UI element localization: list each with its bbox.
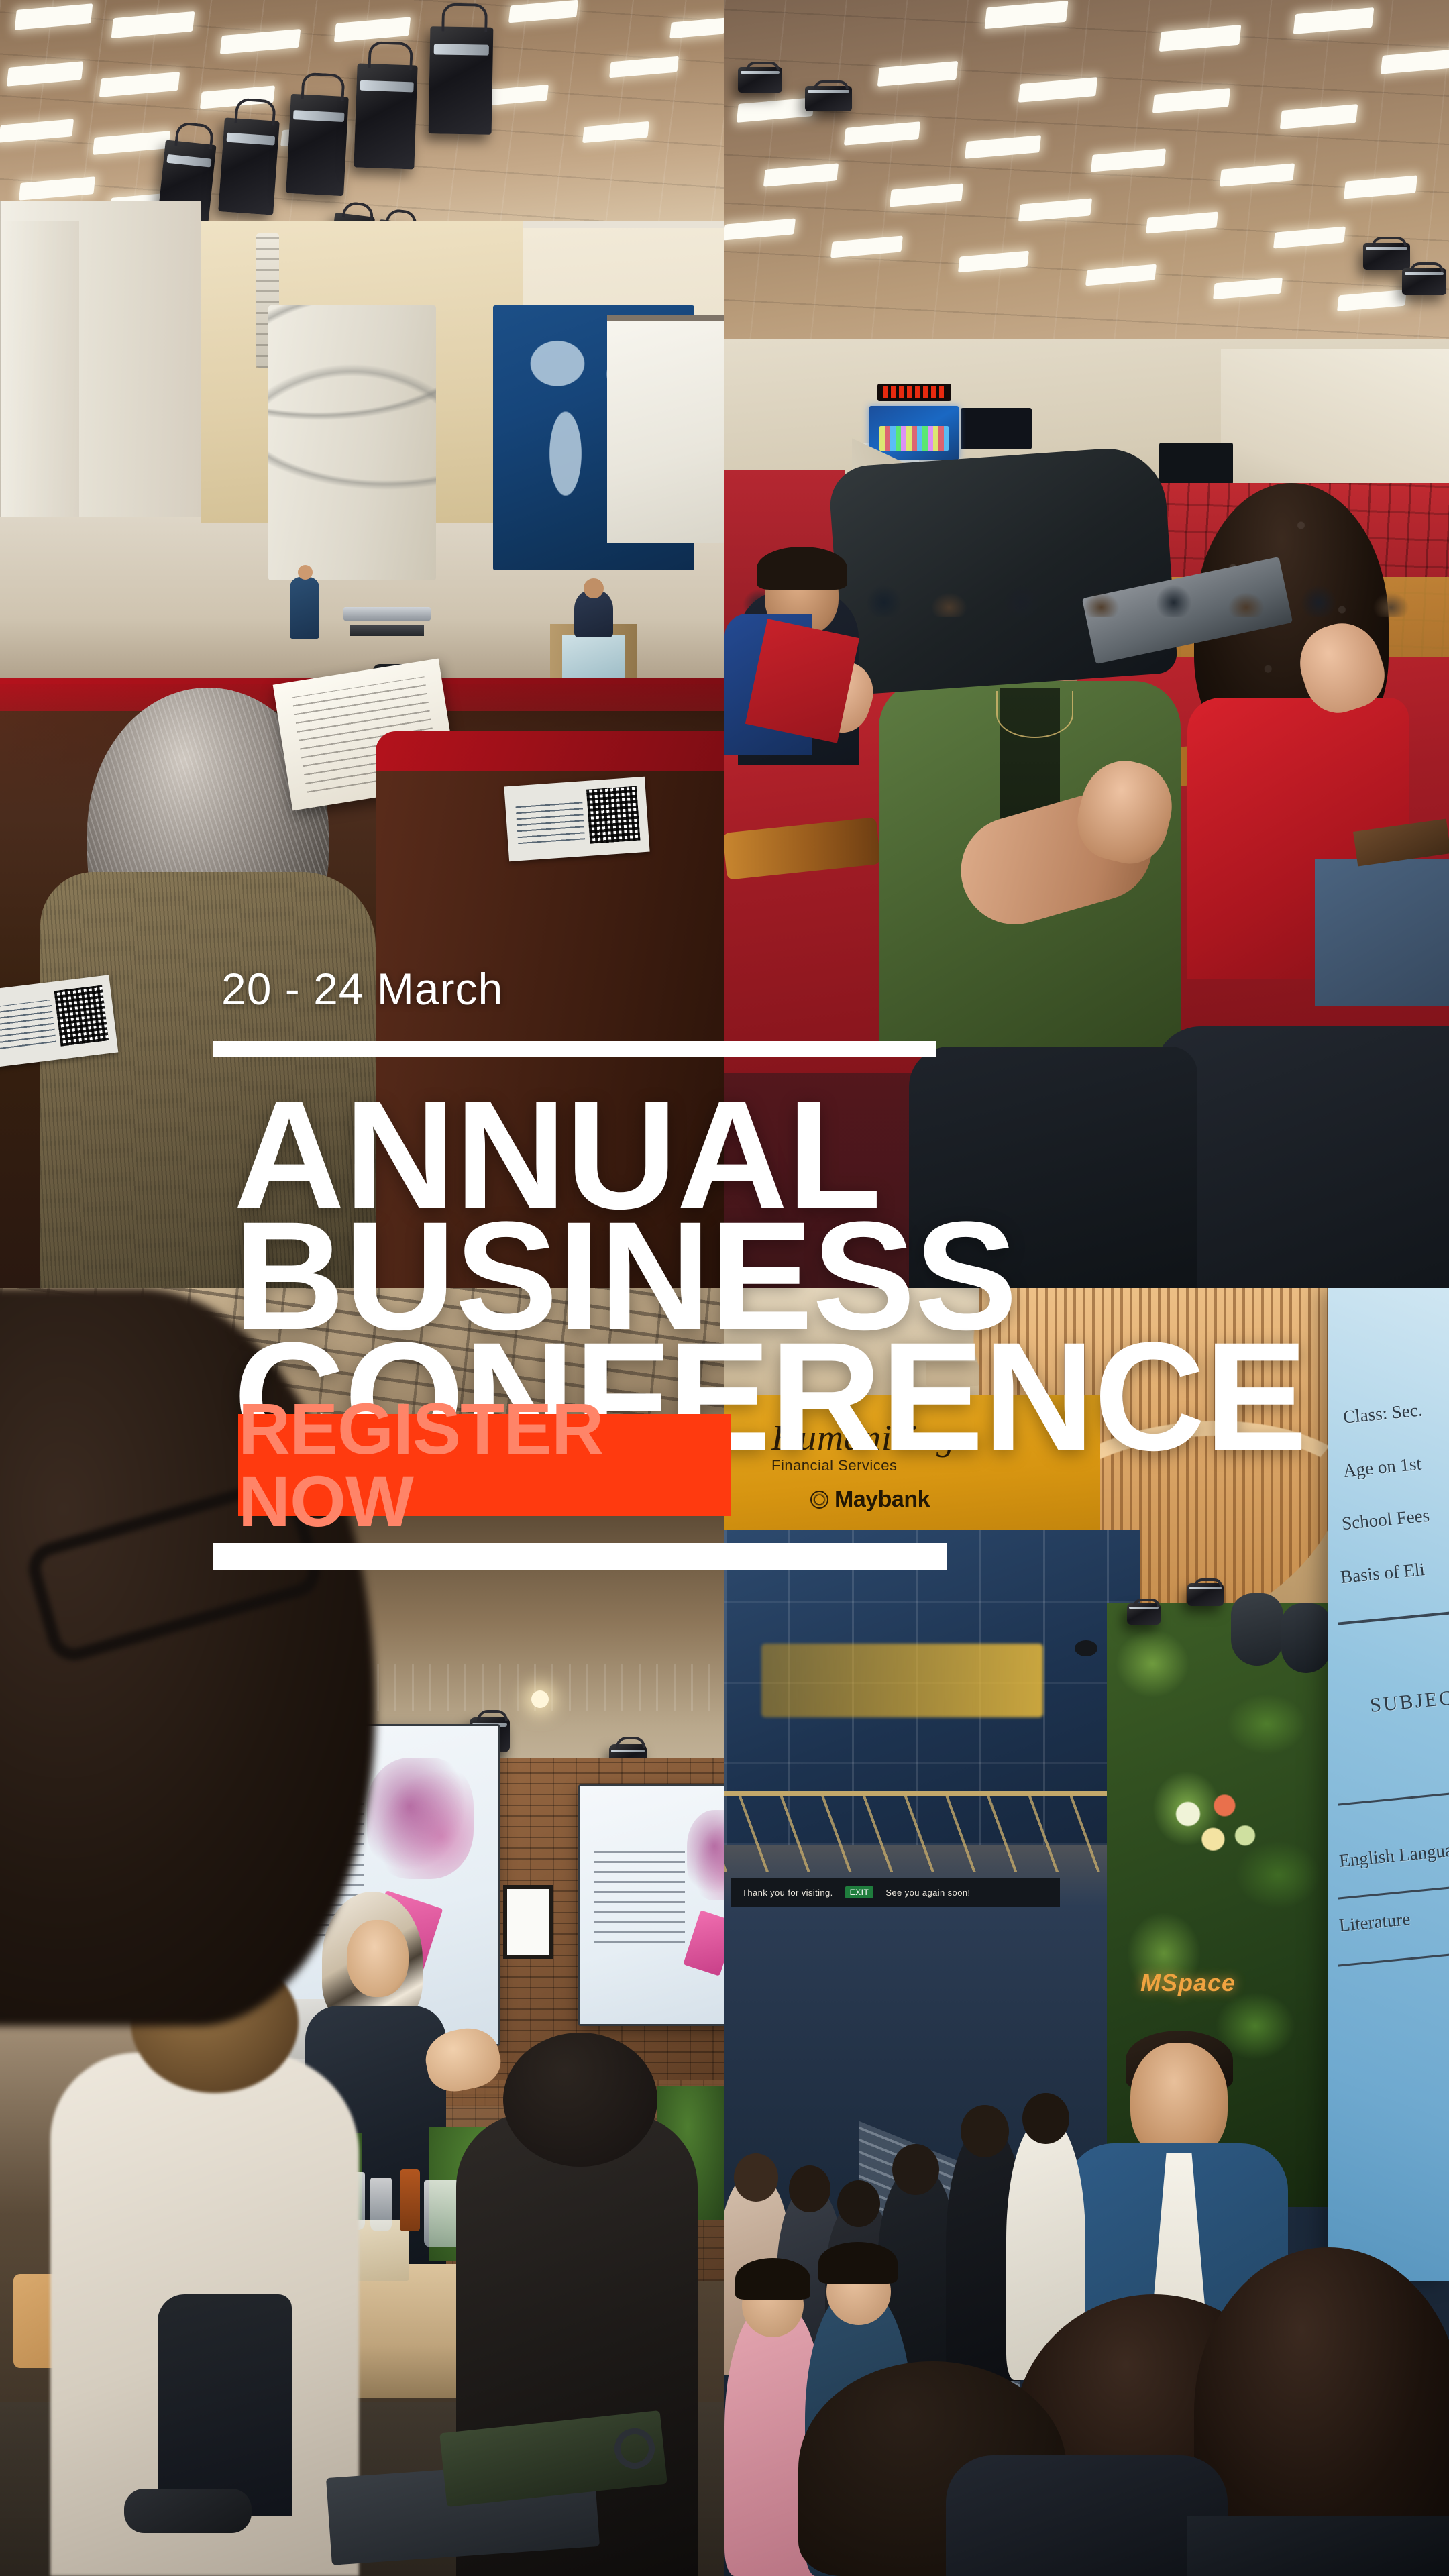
seated-attendee-legs (158, 2294, 292, 2516)
floral-arrangement (1154, 1781, 1268, 1875)
face (1130, 2043, 1228, 2160)
exit-banner-left-text: Thank you for visiting. (742, 1888, 833, 1898)
stage-spotlight (1363, 243, 1410, 270)
maybank-tiger-icon (810, 1491, 828, 1509)
register-now-label: REGISTER NOW (238, 1393, 731, 1538)
maybank-tower-sign-reflection (761, 1644, 1043, 1717)
countdown-timer-display (877, 384, 951, 401)
speaker-cabinet (1231, 1593, 1283, 1666)
mspace-sign: MSpace (1140, 1969, 1268, 2009)
speaker-cabinet (1281, 1603, 1331, 1673)
accent-spotlight (1187, 1583, 1224, 1606)
stage-spotlight (429, 26, 494, 135)
foreground-attendee-shoulders (946, 2455, 1228, 2576)
sauce-bottle (400, 2169, 420, 2231)
framed-artwork (503, 1885, 553, 1959)
divider-rule-bottom (213, 1543, 947, 1570)
presentation-screen-secondary (578, 1784, 724, 2026)
info-line: Class: Sec. (1342, 1399, 1424, 1428)
atrium-railing (724, 1791, 1140, 1872)
dome-camera (1075, 1640, 1097, 1656)
stage-spotlight (218, 117, 280, 215)
seated-attendee-jeans (1315, 859, 1449, 1006)
info-line: School Fees (1341, 1505, 1431, 1534)
colorful-display-screen (869, 406, 959, 460)
projection-screen (607, 315, 724, 543)
stage-spotlight (1402, 268, 1446, 295)
info-line: Basis of Eli (1340, 1559, 1426, 1588)
brand-name: Maybank (835, 1487, 930, 1513)
register-now-button[interactable]: REGISTER NOW (238, 1414, 731, 1516)
info-line: Literature (1338, 1909, 1411, 1936)
info-line: English Languag (1338, 1839, 1449, 1871)
info-line: Age on 1st (1342, 1453, 1422, 1481)
seat-qr-sticker (504, 777, 649, 861)
stage-backdrop (268, 305, 436, 580)
dark-trousers (1154, 1026, 1449, 1288)
conference-poster: Humanising Financial Services Maybank Th… (0, 0, 1449, 2576)
stage-spotlight (805, 86, 852, 111)
exit-banner-right-text: See you again soon! (885, 1888, 970, 1898)
info-heading: SUBJEC (1369, 1686, 1449, 1717)
exit-banner: Thank you for visiting. EXIT See you aga… (731, 1878, 1060, 1907)
accent-spotlight (1127, 1603, 1161, 1625)
stage-spotlight (738, 67, 782, 93)
face (347, 1920, 409, 1997)
divider-rule-top (213, 1041, 936, 1057)
stage-spotlight (286, 94, 349, 196)
exit-sign: EXIT (845, 1886, 874, 1898)
stage-spotlight (354, 63, 417, 169)
condiment-bottle (370, 2178, 392, 2231)
shoe (124, 2489, 252, 2533)
foreground-attendee-shoulders (1187, 2516, 1449, 2576)
information-screen: Class: Sec. Age on 1st School Fees Basis… (1328, 1288, 1449, 2281)
event-date: 20 - 24 March (221, 963, 503, 1014)
